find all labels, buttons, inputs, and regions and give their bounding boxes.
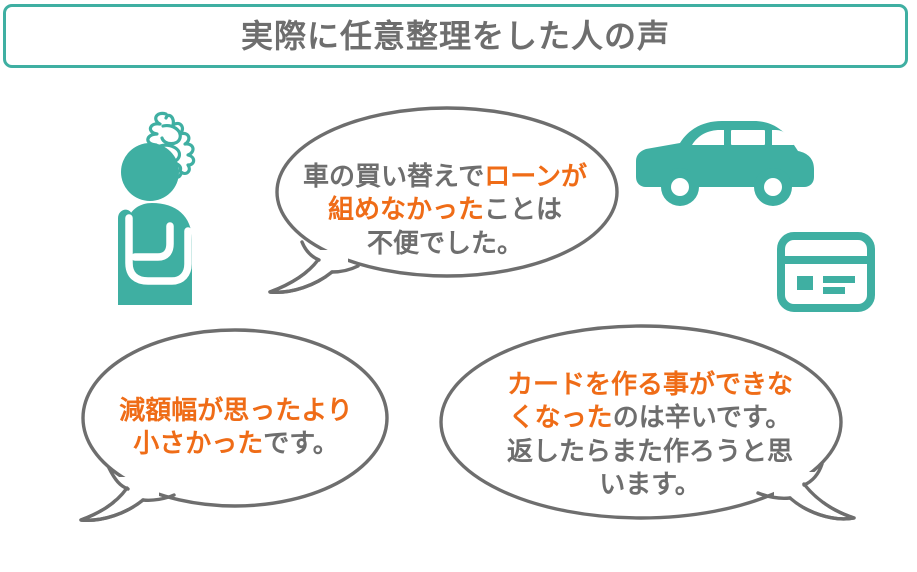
person-head bbox=[121, 143, 179, 201]
speech-bubble-loan-text: 車の買い替えでローンが 組めなかったことは 不便でした。 bbox=[285, 160, 605, 260]
page-title: 実際に任意整理をした人の声 bbox=[241, 20, 670, 52]
card-chip bbox=[797, 276, 813, 290]
page-title-banner: 実際に任意整理をした人の声 bbox=[3, 4, 908, 68]
speech-bubble-reduction-text: 減額幅が思ったより 小さかったです。 bbox=[96, 394, 376, 461]
speech-bubble-card-text: カードを作る事ができな くなったのは辛いです。 返したらまた作ろうと思 います。 bbox=[480, 368, 820, 501]
card-magnetic-stripe bbox=[785, 256, 867, 264]
worried-person-icon bbox=[96, 100, 226, 310]
card-line-2 bbox=[823, 287, 845, 294]
car-window-rear bbox=[772, 130, 794, 145]
testimonial-segment: です。 bbox=[263, 428, 338, 458]
car-window-middle bbox=[731, 130, 765, 145]
credit-card-icon bbox=[777, 232, 875, 312]
card-outline bbox=[781, 236, 871, 308]
car-icon bbox=[636, 115, 816, 210]
testimonial-segment: 車の買い替えで bbox=[303, 161, 484, 191]
card-line-1 bbox=[823, 276, 855, 283]
